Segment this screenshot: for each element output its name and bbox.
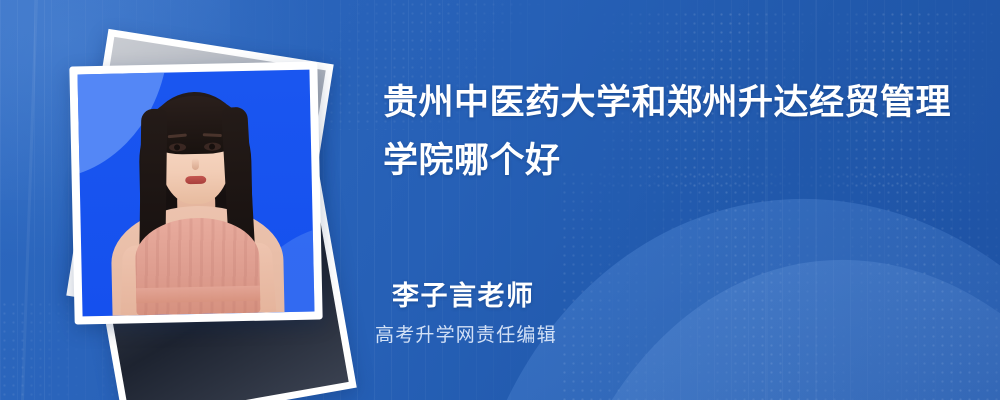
mouth — [185, 176, 206, 184]
nose — [192, 158, 199, 170]
portrait-figure — [77, 70, 314, 317]
dress-waistband — [136, 286, 260, 304]
author-role: 高考升学网责任编辑 — [375, 320, 557, 347]
banner-text-block: 贵州中医药大学和郑州升达经贸管理学院哪个好 李子言老师 高考升学网责任编辑 — [383, 0, 983, 400]
page-title: 贵州中医药大学和郑州升达经贸管理学院哪个好 — [383, 74, 963, 190]
author-photo-card — [69, 61, 322, 324]
author-name: 李子言老师 — [392, 274, 535, 313]
author-portrait-photo — [77, 70, 314, 317]
article-header-banner: 贵州中医药大学和郑州升达经贸管理学院哪个好 李子言老师 高考升学网责任编辑 — [0, 0, 1000, 400]
photo-card-stack — [0, 0, 360, 400]
